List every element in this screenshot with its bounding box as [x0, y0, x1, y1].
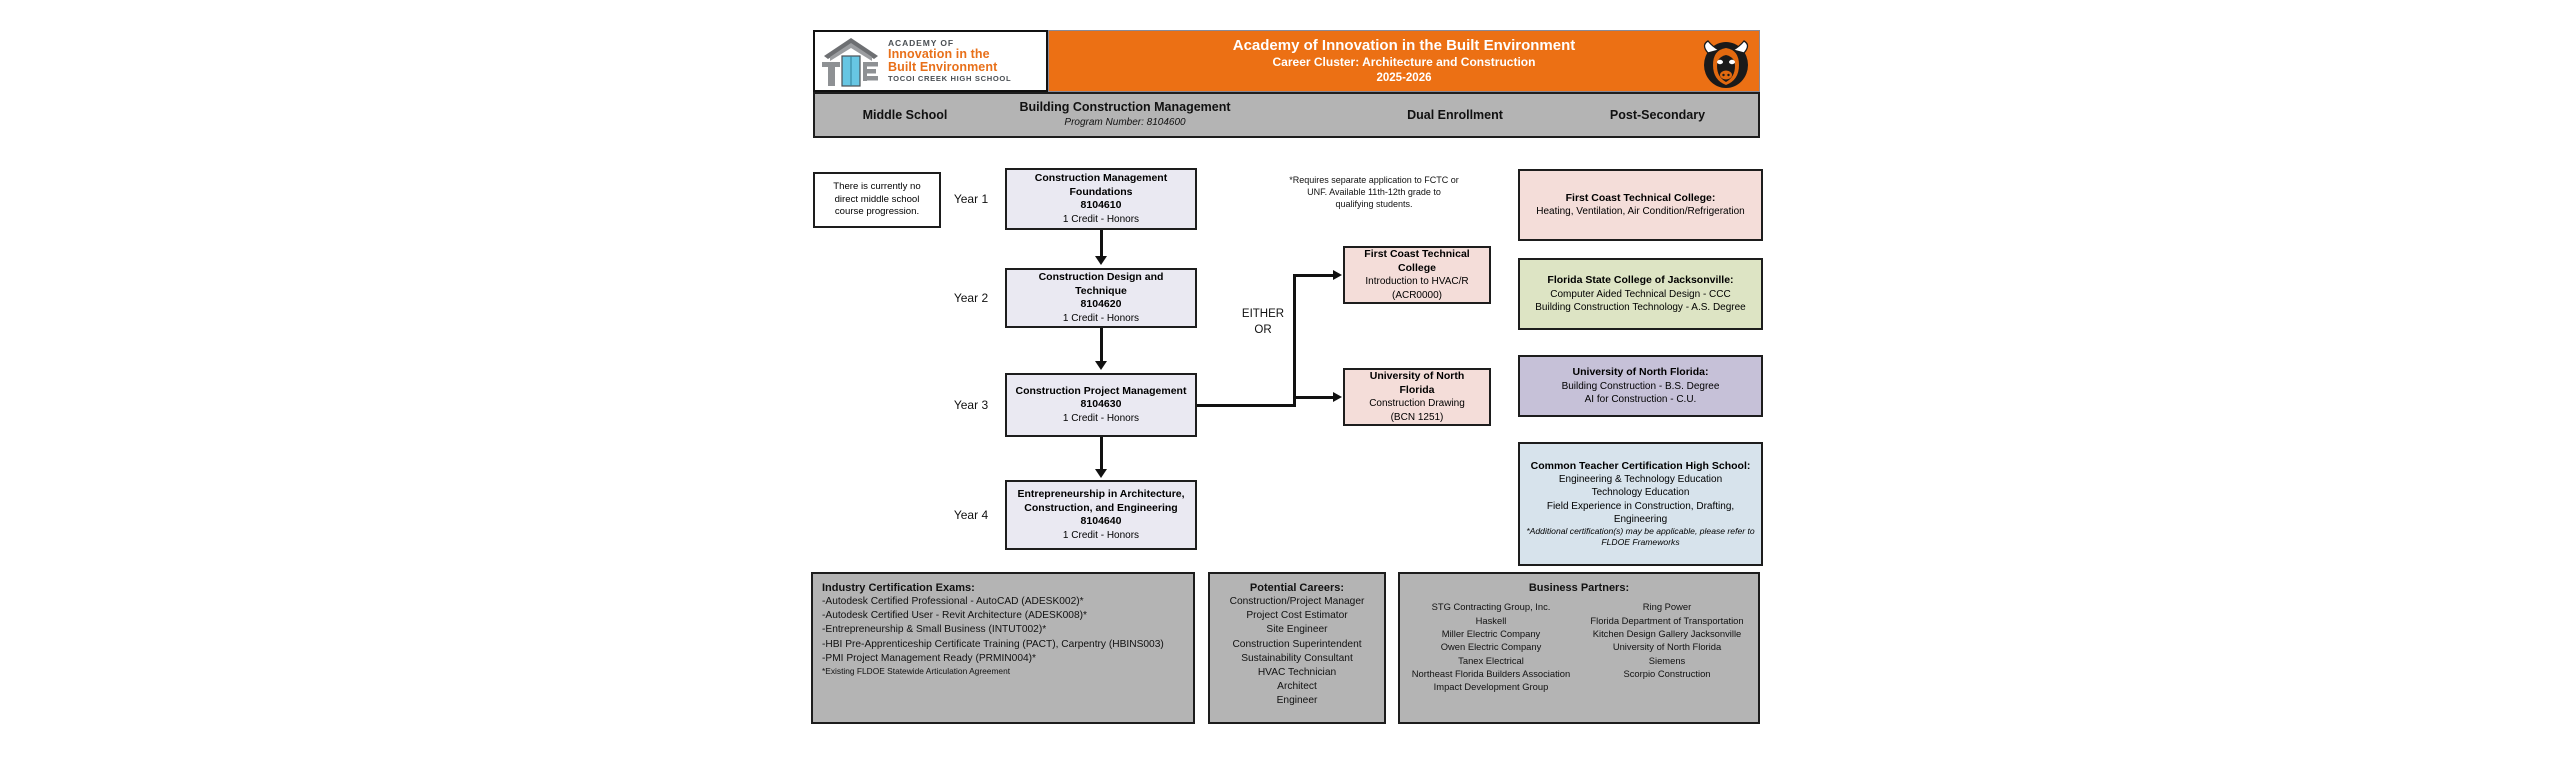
dual-enrollment-box-fctc[interactable]: First Coast Technical College Introducti… [1343, 246, 1491, 304]
logo-line-built-environment: Built Environment [888, 61, 1011, 74]
middle-school-note: There is currently no direct middle scho… [813, 172, 941, 228]
career-item: Project Cost Estimator [1216, 609, 1378, 623]
course-name: Construction Design and Technique [1013, 271, 1189, 298]
course-number: 8104620 [1081, 298, 1122, 312]
title-banner: Academy of Innovation in the Built Envir… [1048, 30, 1760, 92]
connector-y3-branch [1197, 404, 1295, 407]
dual-enrollment-box-unf[interactable]: University of North Florida Construction… [1343, 368, 1491, 426]
course-number: 8104630 [1081, 398, 1122, 412]
bull-mascot-icon [1699, 35, 1753, 89]
year-label-3: Year 3 [941, 398, 1001, 412]
program-number: Program Number: 8104600 [985, 116, 1265, 129]
business-partner-item: Northeast Florida Builders Association [1408, 667, 1574, 680]
column-header-post-secondary: Post-Secondary [1555, 108, 1760, 124]
ps-program: AI for Construction - C.U. [1585, 393, 1697, 406]
year-label-1: Year 1 [941, 192, 1001, 206]
connector-y1-y2 [1100, 230, 1103, 258]
business-partners-panel: Business Partners: STG Contracting Group… [1398, 572, 1760, 724]
de-code: (ACR0000) [1392, 289, 1442, 302]
ps-program: Technology Education [1592, 486, 1690, 499]
ps-program: Computer Aided Technical Design - CCC [1550, 288, 1730, 301]
course-box-year-2[interactable]: Construction Design and Technique 810462… [1005, 268, 1197, 328]
business-partner-item: Ring Power [1584, 600, 1750, 613]
ps-program: Engineering & Technology Education [1559, 473, 1722, 486]
arrow-y1-y2-icon [1095, 256, 1107, 265]
dual-enrollment-note: *Requires separate application to FCTC o… [1288, 174, 1460, 210]
de-code: (BCN 1251) [1391, 411, 1444, 424]
course-box-year-4[interactable]: Entrepreneurship in Architecture, Constr… [1005, 480, 1197, 550]
de-course: Construction Drawing [1369, 397, 1465, 410]
business-partner-item: Haskell [1408, 614, 1574, 627]
ps-institution: Florida State College of Jacksonville: [1547, 274, 1733, 288]
course-number: 8104610 [1081, 199, 1122, 213]
panel-heading: Potential Careers: [1216, 581, 1378, 595]
business-partner-item: Impact Development Group [1408, 680, 1574, 693]
column-headers: Middle School Building Construction Mana… [813, 92, 1760, 138]
logo-line-innovation: Innovation in the [888, 48, 1011, 61]
course-credit: 1 Credit - Honors [1063, 412, 1139, 425]
ps-institution: University of North Florida: [1573, 366, 1709, 380]
business-partners-right-column: Ring Power Florida Department of Transpo… [1584, 600, 1750, 693]
business-partner-item: STG Contracting Group, Inc. [1408, 600, 1574, 613]
course-box-year-3[interactable]: Construction Project Management 8104630 … [1005, 373, 1197, 437]
ps-program: Field Experience in Construction, Drafti… [1526, 500, 1755, 526]
ps-footnote: *Additional certification(s) may be appl… [1526, 526, 1755, 548]
arrow-y3-y4-icon [1095, 469, 1107, 478]
career-item: HVAC Technician [1216, 666, 1378, 680]
panel-footnote: *Existing FLDOE Statewide Articulation A… [822, 666, 1184, 677]
year-label-2: Year 2 [941, 291, 1001, 305]
connector-y3-y4 [1100, 437, 1103, 471]
business-partner-item: Tanex Electrical [1408, 654, 1574, 667]
course-number: 8104640 [1081, 515, 1122, 529]
banner-year: 2025-2026 [1377, 71, 1432, 87]
business-partner-item: Siemens [1584, 654, 1750, 667]
banner-subtitle: Career Cluster: Architecture and Constru… [1273, 55, 1536, 71]
connector-branch-vertical [1293, 274, 1296, 407]
business-partner-item: Owen Electric Company [1408, 640, 1574, 653]
post-secondary-box-unf[interactable]: University of North Florida: Building Co… [1518, 355, 1763, 417]
certification-item: -PMI Project Management Ready (PRMIN004)… [822, 652, 1184, 666]
ps-institution: First Coast Technical College: [1566, 192, 1716, 206]
course-name: Construction Project Management [1016, 385, 1187, 399]
connector-y2-y3 [1100, 328, 1103, 363]
certification-item: -Entrepreneurship & Small Business (INTU… [822, 623, 1184, 637]
course-credit: 1 Credit - Honors [1063, 312, 1139, 325]
post-secondary-box-teacher-certification[interactable]: Common Teacher Certification High School… [1518, 442, 1763, 566]
ps-institution: Common Teacher Certification High School… [1531, 460, 1751, 474]
business-partner-item: Florida Department of Transportation [1584, 614, 1750, 627]
business-partner-item: Scorpio Construction [1584, 667, 1750, 680]
potential-careers-panel: Potential Careers: Construction/Project … [1208, 572, 1386, 724]
course-credit: 1 Credit - Honors [1063, 213, 1139, 226]
ps-program: Building Construction Technology - A.S. … [1535, 301, 1746, 314]
arrow-y2-y3-icon [1095, 361, 1107, 370]
career-item: Architect [1216, 680, 1378, 694]
business-partner-item: Kitchen Design Gallery Jacksonville [1584, 627, 1750, 640]
academy-logo: ACADEMY OF Innovation in the Built Envir… [813, 30, 1048, 92]
column-header-program: Building Construction Management Program… [985, 100, 1265, 129]
career-item: Site Engineer [1216, 623, 1378, 637]
post-secondary-box-fscj[interactable]: Florida State College of Jacksonville: C… [1518, 258, 1763, 330]
panel-heading: Industry Certification Exams: [822, 581, 1184, 595]
pathway-diagram-canvas: ACADEMY OF Innovation in the Built Envir… [0, 0, 2560, 764]
arrow-to-unf-icon [1333, 392, 1342, 402]
de-institution: University of North Florida [1351, 370, 1483, 397]
de-course: Introduction to HVAC/R [1365, 275, 1468, 288]
course-credit: 1 Credit - Honors [1063, 529, 1139, 542]
course-name: Entrepreneurship in Architecture, Constr… [1013, 488, 1189, 515]
ps-program: Heating, Ventilation, Air Condition/Refr… [1536, 205, 1744, 218]
certification-item: -HBI Pre-Apprenticeship Certificate Trai… [822, 638, 1184, 652]
logo-line-school: TOCOI CREEK HIGH SCHOOL [888, 75, 1011, 83]
course-name: Construction Management Foundations [1013, 172, 1189, 199]
banner-title: Academy of Innovation in the Built Envir… [1233, 36, 1576, 55]
career-item: Engineer [1216, 694, 1378, 708]
certification-item: -Autodesk Certified User - Revit Archite… [822, 609, 1184, 623]
business-partner-item: Miller Electric Company [1408, 627, 1574, 640]
career-item: Construction Superintendent [1216, 638, 1378, 652]
business-partner-item: University of North Florida [1584, 640, 1750, 653]
panel-heading: Business Partners: [1408, 581, 1750, 595]
certification-item: -Autodesk Certified Professional - AutoC… [822, 595, 1184, 609]
column-header-dual-enrollment: Dual Enrollment [1345, 108, 1565, 124]
business-partners-left-column: STG Contracting Group, Inc. Haskell Mill… [1408, 600, 1574, 693]
course-box-year-1[interactable]: Construction Management Foundations 8104… [1005, 168, 1197, 230]
tchs-house-logo-icon [820, 34, 882, 88]
arrow-to-fctc-icon [1333, 270, 1342, 280]
ps-program: Building Construction - B.S. Degree [1562, 380, 1720, 393]
career-item: Sustainability Consultant [1216, 652, 1378, 666]
career-item: Construction/Project Manager [1216, 595, 1378, 609]
industry-certifications-panel: Industry Certification Exams: -Autodesk … [811, 572, 1195, 724]
connector-to-fctc [1293, 274, 1335, 277]
column-header-middle-school: Middle School [815, 108, 995, 124]
post-secondary-box-fctc[interactable]: First Coast Technical College: Heating, … [1518, 169, 1763, 241]
connector-to-unf [1293, 396, 1335, 399]
year-label-4: Year 4 [941, 508, 1001, 522]
de-institution: First Coast Technical College [1351, 248, 1483, 275]
